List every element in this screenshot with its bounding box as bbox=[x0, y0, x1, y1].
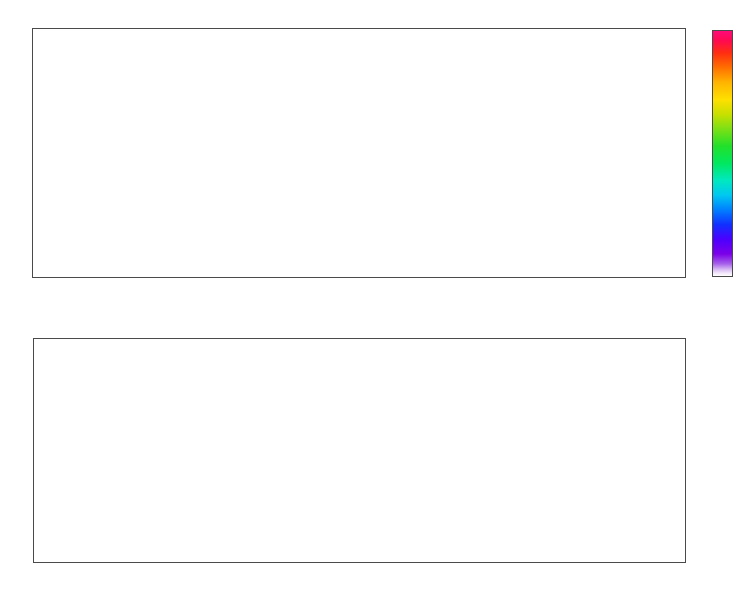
colorbar bbox=[712, 30, 733, 277]
figure-canvas bbox=[0, 0, 750, 600]
spectrogram-image bbox=[33, 29, 685, 277]
spectrogram-panel bbox=[32, 28, 686, 278]
snr-trace bbox=[34, 339, 685, 562]
snr-panel bbox=[33, 338, 686, 563]
